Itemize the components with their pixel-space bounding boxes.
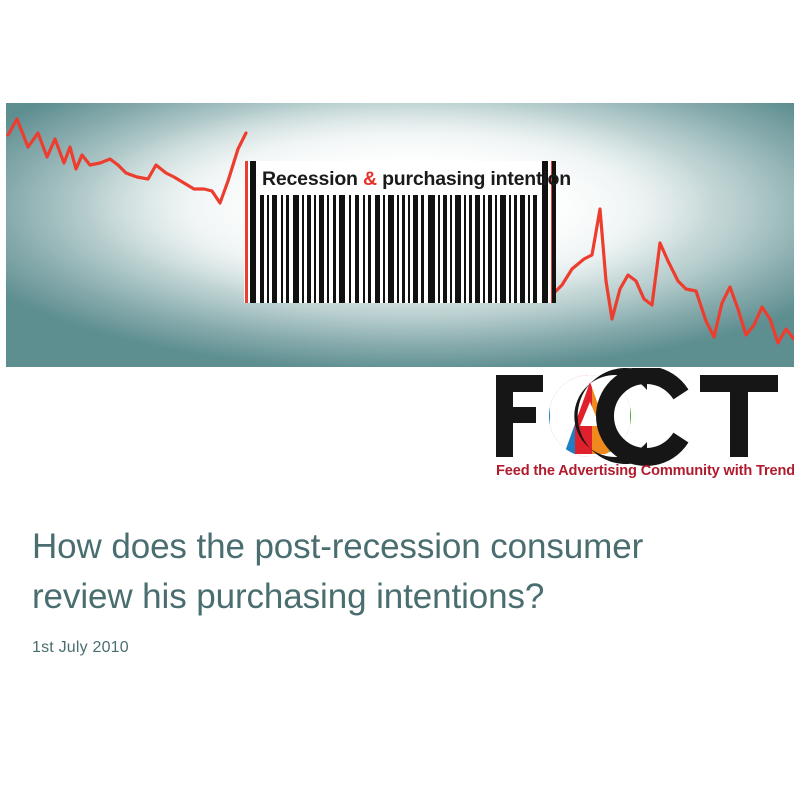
barcode-guard-left [250, 161, 256, 303]
fact-logo-graphic: Feed the Advertising Community with Tren… [488, 368, 794, 480]
fact-logo: Feed the Advertising Community with Tren… [488, 368, 794, 480]
hero-banner: Recession & purchasing intention [6, 103, 794, 367]
barcode-graphic: Recession & purchasing intention [244, 161, 571, 303]
barcode-label: Recession & purchasing intention [262, 168, 571, 190]
hero-banner-graphic: Recession & purchasing intention [6, 103, 794, 367]
title-slide: Recession & purchasing intention [0, 0, 800, 800]
logo-letter-f [496, 375, 543, 457]
logo-tagline: Feed the Advertising Community with Tren… [496, 463, 794, 479]
title-block: How does the post-recession consumer rev… [32, 522, 768, 657]
logo-letter-t [700, 375, 778, 457]
page-title: How does the post-recession consumer rev… [32, 522, 768, 621]
barcode-label-ampersand: & [363, 168, 377, 190]
barcode-accent-left [245, 161, 248, 303]
slide-date: 1st July 2010 [32, 639, 768, 657]
